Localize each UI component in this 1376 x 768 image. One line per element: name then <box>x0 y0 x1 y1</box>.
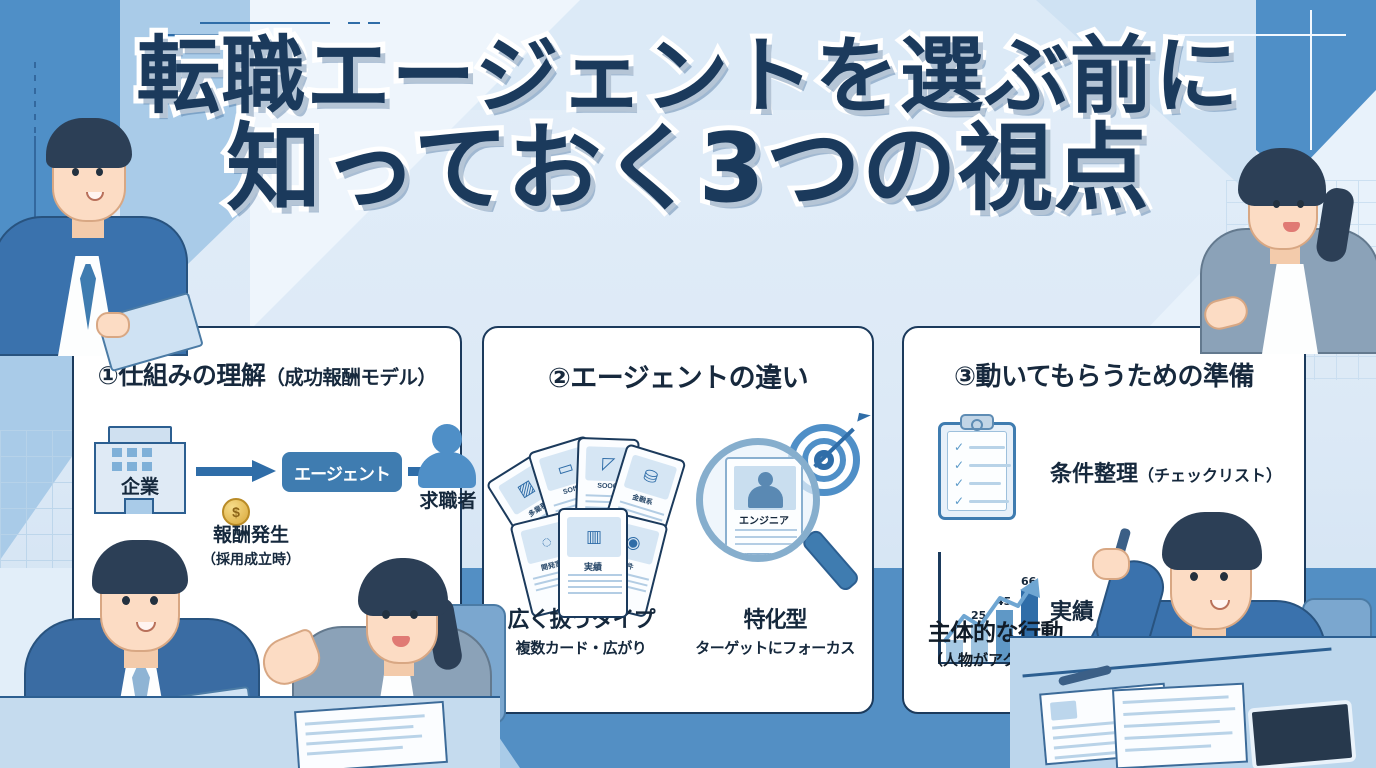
job-seeker-avatar-icon: 求職者 <box>402 424 494 520</box>
fan-card-center-label: 実績 <box>560 560 626 573</box>
document-right-2 <box>1112 683 1248 768</box>
agent-box: エージェント <box>282 452 402 492</box>
profile-card: エンジニア <box>725 457 803 555</box>
profile-role-label: エンジニア <box>727 512 801 527</box>
clipboard-checklist-icon: ✓ ✓ ✓ ✓ <box>938 422 1016 520</box>
arrow-dart-icon <box>816 416 868 468</box>
fee-flow-diagram: 企業 エージェント 求職者 <box>74 420 460 530</box>
company-building-icon: 企業 <box>94 426 186 514</box>
title-line-1: 転職エージェントを選ぶ前に <box>0 34 1376 118</box>
card-agent-differences[interactable]: ②エージェントの違い ▨ 多業種 ▭ SOf9 ◸ SOO6 ⛁ 金融系 <box>482 326 874 714</box>
card2-title: ②エージェントの違い <box>484 328 872 395</box>
magnifier-handle <box>800 528 861 594</box>
card3-row-1: 条件整理（チェックリスト） <box>1050 456 1282 488</box>
accent-line-3 <box>368 22 380 24</box>
arrow-right-icon-large <box>196 464 276 478</box>
card2-footer-broad-sub: 複数カード・広がり <box>484 637 678 658</box>
card2-footer-specialized: 特化型 ターゲットにフォーカス <box>678 602 872 658</box>
document-left <box>294 701 448 768</box>
title-line-2: 知っておく3つの視点 <box>0 122 1376 217</box>
company-label: 企業 <box>94 472 186 499</box>
fan-card-center: ▥ 実績 <box>558 508 628 618</box>
accent-line-1 <box>200 22 330 24</box>
card2-footer-specialized-sub: ターゲットにフォーカス <box>678 637 872 658</box>
agent-label: エージェント <box>294 460 390 485</box>
infographic-canvas: 転職エージェントを選ぶ前に 知っておく3つの視点 ①仕組みの理解（成功報酬モデル… <box>0 0 1376 768</box>
bar-chart-icon: ▥ <box>567 517 621 557</box>
magnifier-lens-icon: エンジニア <box>696 438 820 562</box>
tablet-on-desk-icon <box>1247 700 1356 768</box>
card2-footer-group: 広く扱うタイプ 複数カード・広がり 特化型 ターゲットにフォーカス <box>484 602 872 658</box>
fanned-cards-group: ▨ 多業種 ▭ SOf9 ◸ SOO6 ⛁ 金融系 ◌ 開発室 <box>504 420 684 620</box>
card2-footer-specialized-main: 特化型 <box>678 602 872 634</box>
title-block: 転職エージェントを選ぶ前に 知っておく3つの視点 <box>0 34 1376 217</box>
magnifier-group: エンジニア <box>696 424 856 614</box>
accent-line-2 <box>348 22 360 24</box>
avatar <box>734 466 796 510</box>
